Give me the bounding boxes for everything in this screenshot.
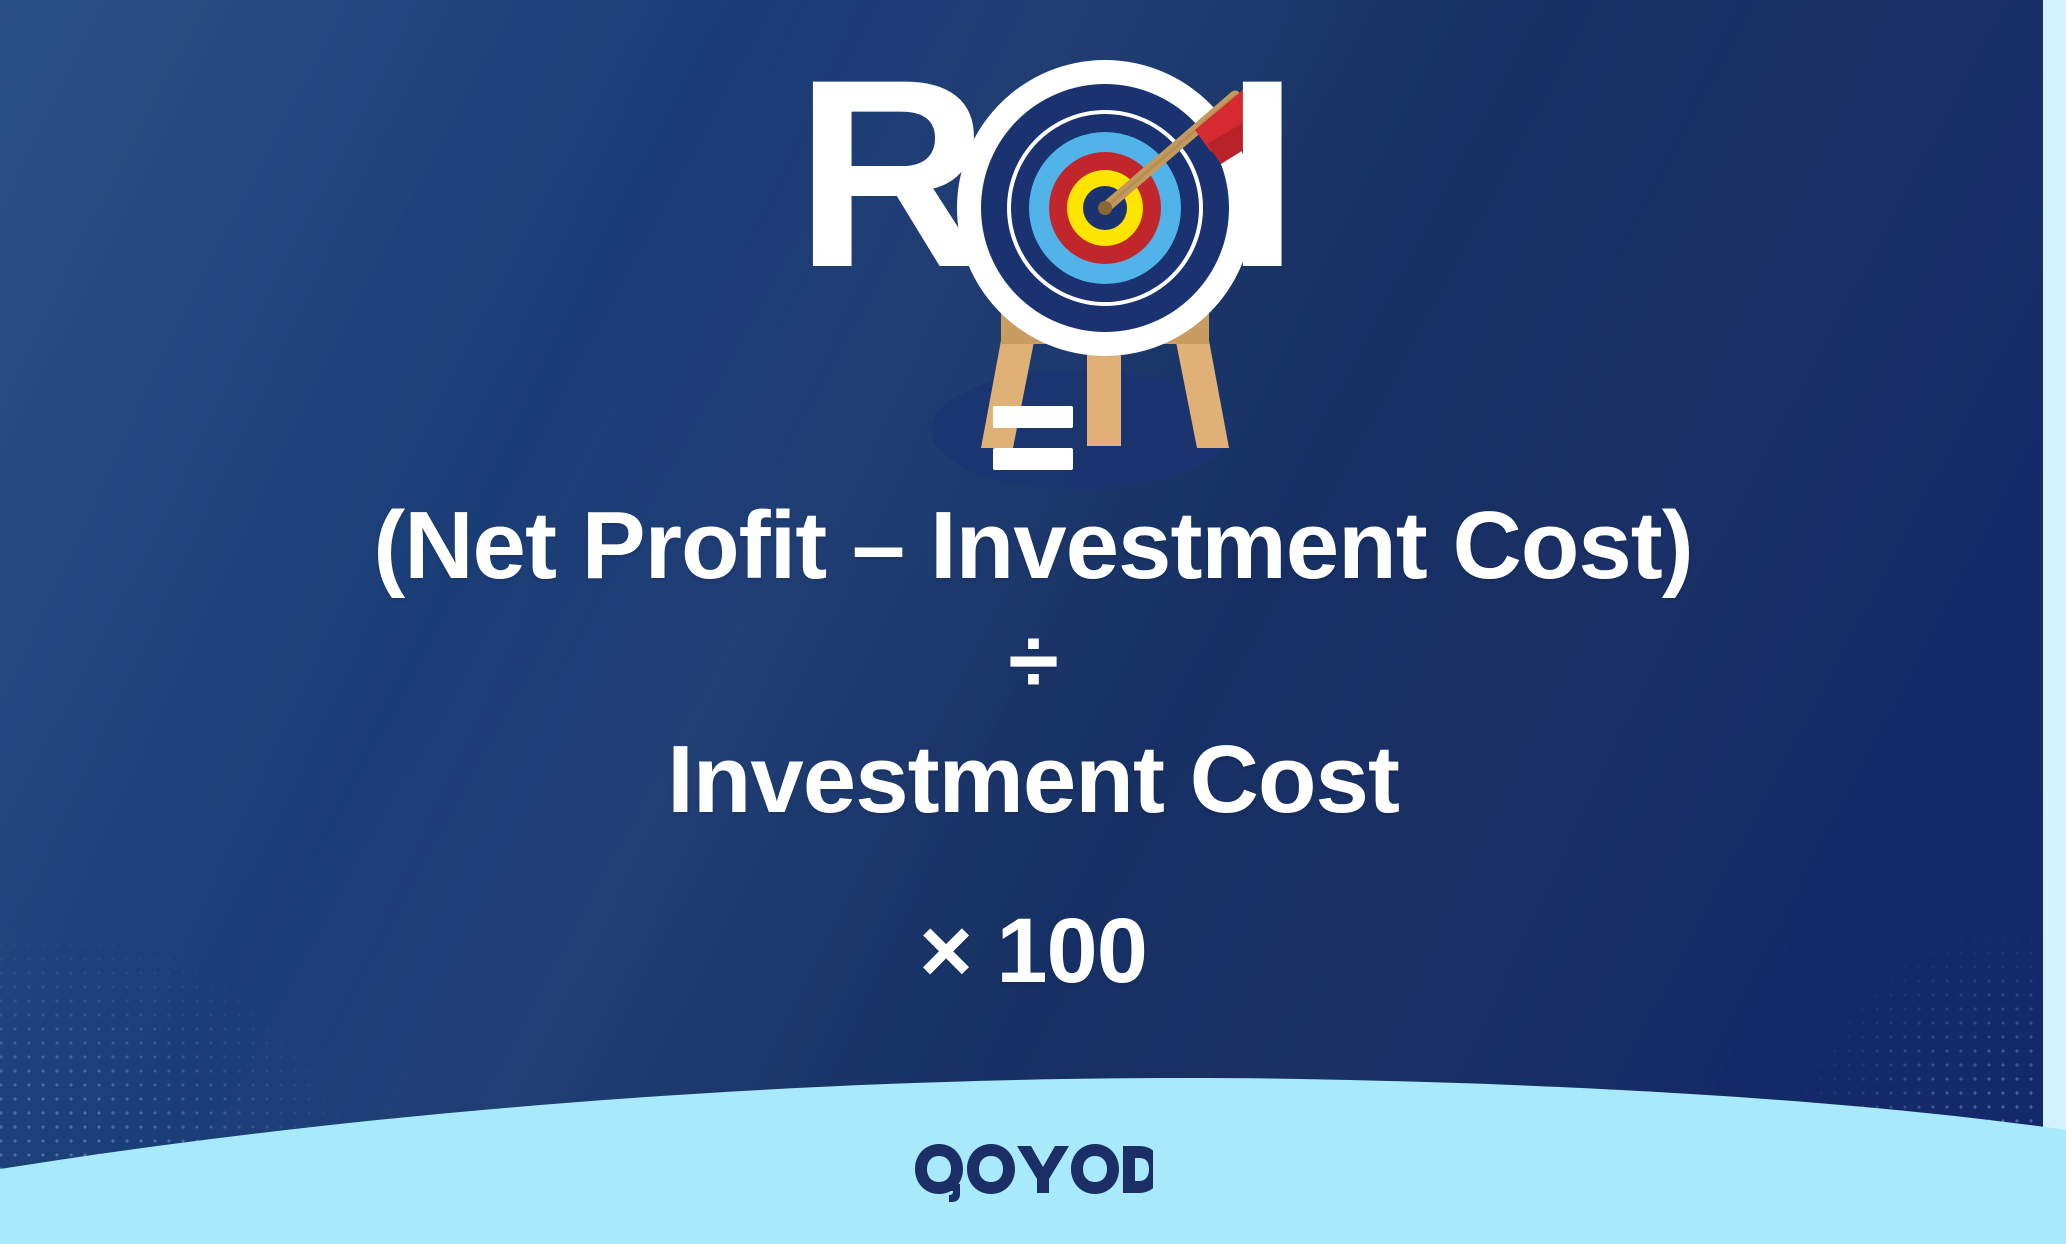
roi-letter-i: I (1225, 48, 1293, 298)
formula-divide-symbol: ÷ (0, 602, 2066, 720)
qoyod-logotype (913, 1140, 1153, 1202)
equals-bar-bottom (993, 448, 1073, 470)
bottom-wave-band (0, 1034, 2066, 1244)
roi-formula-slide: R (0, 0, 2066, 1244)
equals-sign (0, 406, 2066, 476)
roi-wordmark: R (0, 34, 2066, 294)
formula-multiplier: × 100 (0, 896, 2066, 1006)
formula-block: (Net Profit – Investment Cost) ÷ Investm… (0, 490, 2066, 1006)
formula-numerator: (Net Profit – Investment Cost) (0, 490, 2066, 602)
formula-denominator: Investment Cost (0, 724, 2066, 836)
equals-bar-top (993, 406, 1073, 428)
brand-logo (0, 1140, 2066, 1207)
